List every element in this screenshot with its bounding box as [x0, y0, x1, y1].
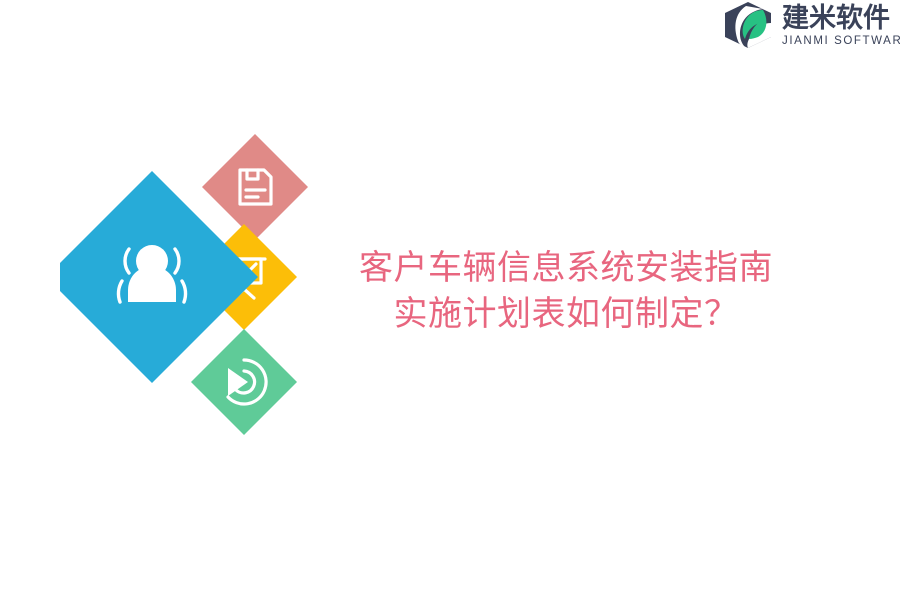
jianmi-hexagon-leaf-logo-icon [722, 1, 774, 49]
page-title-line-1: 客户车辆信息系统安装指南 [326, 246, 806, 292]
brand-subtitle: JIANMI SOFTWARE [782, 36, 900, 48]
diamond-save-shape [202, 134, 308, 240]
diamond-cluster-svg [60, 125, 320, 445]
page-title-line-2: 实施计划表如何制定？ [326, 292, 806, 338]
page-title: 客户车辆信息系统安装指南 实施计划表如何制定？ [326, 246, 806, 338]
poster-canvas: 建米软件 JIANMI SOFTWARE [0, 0, 900, 600]
diamond-icon-cluster [60, 125, 320, 445]
brand-text-block: 建米软件 JIANMI SOFTWARE [782, 3, 900, 48]
brand-name: 建米软件 [782, 4, 900, 32]
diamond-progress[interactable] [191, 329, 297, 435]
diamond-save[interactable] [202, 134, 308, 240]
brand-logo[interactable]: 建米软件 JIANMI SOFTWARE [722, 0, 900, 50]
